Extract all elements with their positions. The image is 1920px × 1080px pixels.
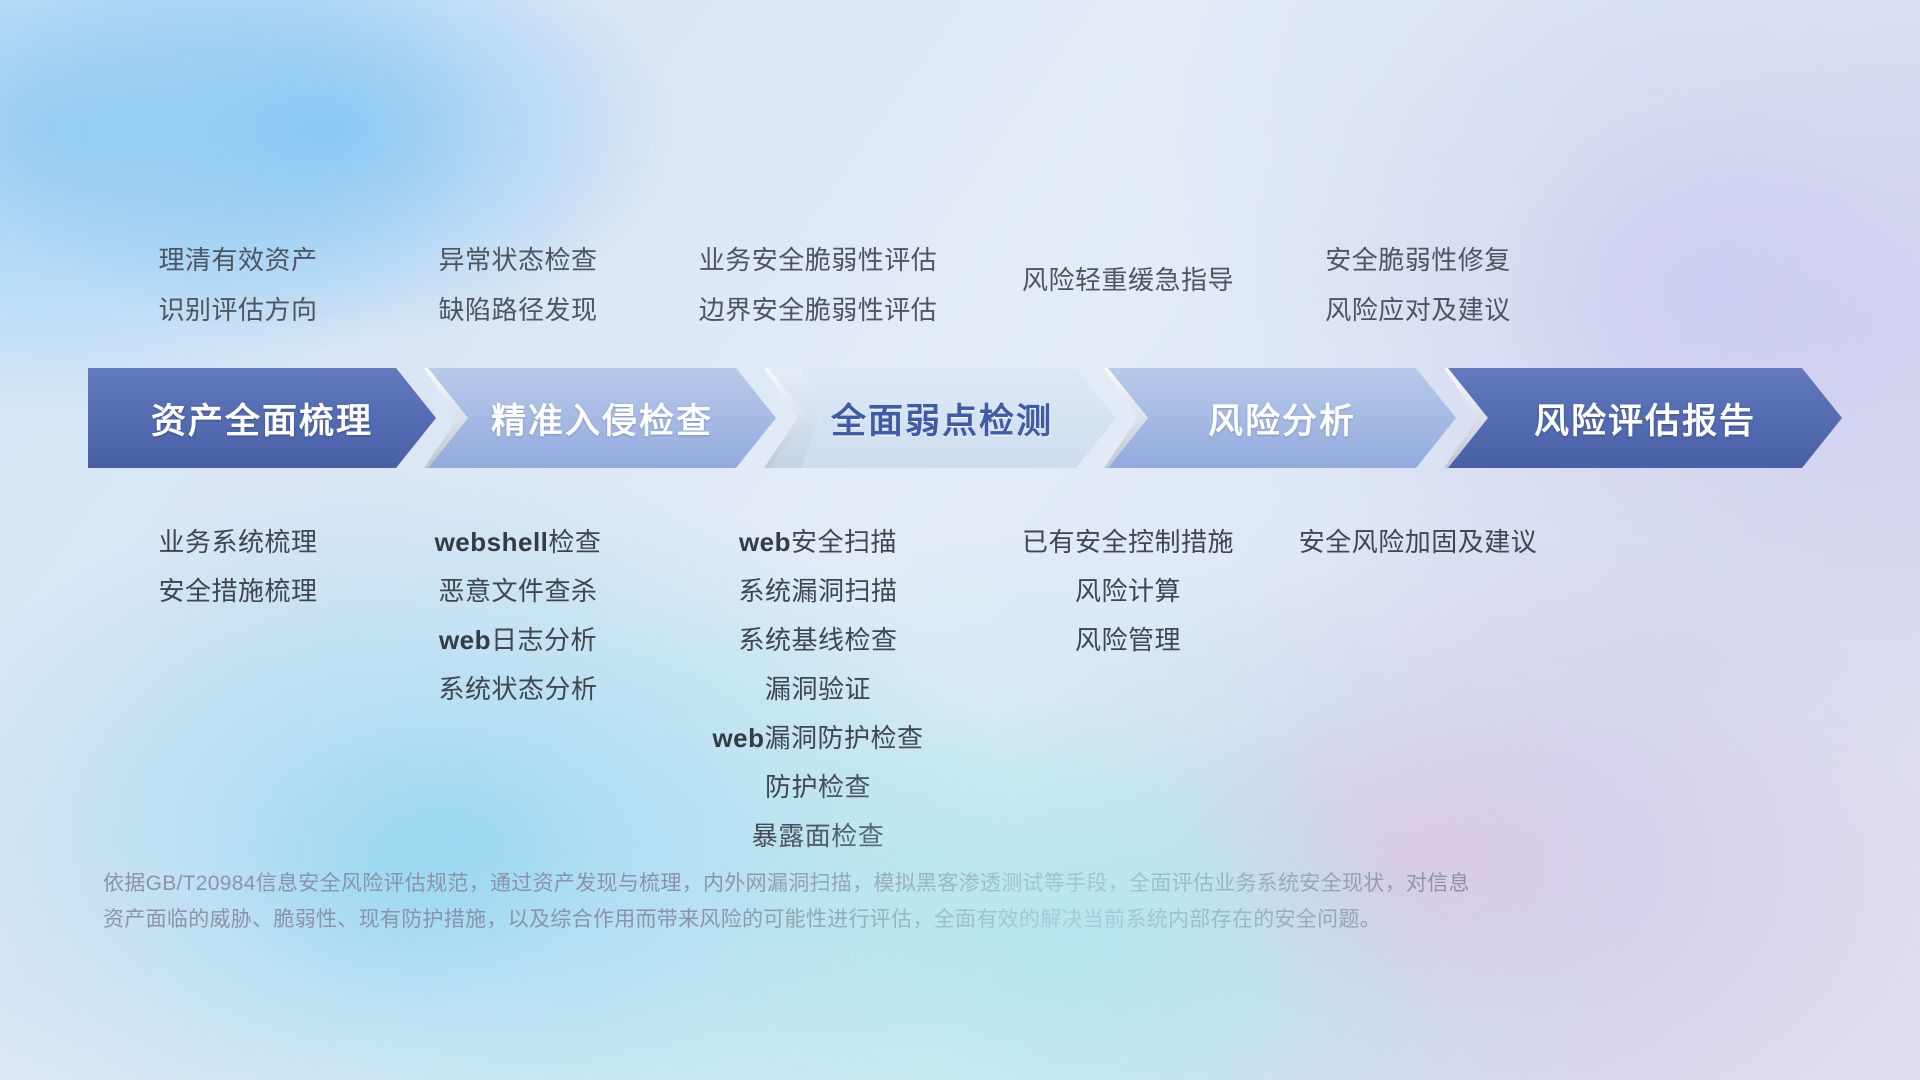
stage-output-item: 系统状态分析 — [368, 665, 668, 714]
stage-output-item: 漏洞验证 — [648, 665, 988, 714]
stage-output-item: 风险计算 — [978, 567, 1278, 616]
footer-line-1: 依据GB/T20984信息安全风险评估规范，通过资产发现与梳理，内外网漏洞扫描，… — [103, 866, 1603, 902]
stage-output-item: web漏洞防护检查 — [648, 714, 988, 763]
stage-input-item: 风险轻重缓急指导 — [978, 255, 1278, 305]
stage-input-item: 异常状态检查 — [368, 235, 668, 285]
stage-inputs-weakness-detection: 业务安全脆弱性评估边界安全脆弱性评估 — [648, 235, 988, 335]
stage-output-item: 恶意文件查杀 — [368, 567, 668, 616]
chevron-step-intrusion-check[interactable]: 精准入侵检查 — [428, 368, 776, 468]
stage-input-item: 边界安全脆弱性评估 — [648, 285, 988, 335]
stage-inputs-intrusion-check: 异常状态检查缺陷路径发现 — [368, 235, 668, 335]
chevron-step-risk-analysis[interactable]: 风险分析 — [1108, 368, 1456, 468]
chevron-step-risk-report[interactable]: 风险评估报告 — [1448, 368, 1842, 468]
stage-output-text: 日志分析 — [491, 625, 597, 655]
chevron-step-label: 风险评估报告 — [1534, 393, 1756, 444]
stage-input-item: 业务安全脆弱性评估 — [648, 235, 988, 285]
footer-line-2: 资产面临的威胁、脆弱性、现有防护措施，以及综合作用而带来风险的可能性进行评估，全… — [103, 902, 1603, 938]
chevron-step-label: 风险分析 — [1208, 393, 1356, 444]
stage-output-text: 漏洞防护检查 — [765, 723, 924, 753]
stage-output-item: webshell检查 — [368, 518, 668, 567]
stage-output-item: 安全措施梳理 — [88, 567, 388, 616]
diagram-canvas: 理清有效资产识别评估方向业务系统梳理安全措施梳理异常状态检查缺陷路径发现webs… — [0, 0, 1920, 1080]
stage-output-item: 已有安全控制措施 — [978, 518, 1278, 567]
stage-output-item: 系统漏洞扫描 — [648, 567, 988, 616]
stage-output-item: 防护检查 — [648, 763, 988, 812]
stage-output-text: 安全扫描 — [791, 527, 897, 557]
stage-output-keyword: web — [439, 625, 491, 655]
chevron-step-label: 资产全面梳理 — [151, 393, 373, 444]
stage-output-item: 业务系统梳理 — [88, 518, 388, 567]
stage-outputs-weakness-detection: web安全扫描系统漏洞扫描系统基线检查漏洞验证web漏洞防护检查防护检查暴露面检… — [648, 518, 988, 861]
stage-inputs-risk-analysis: 风险轻重缓急指导 — [978, 255, 1278, 305]
stage-output-item: 风险管理 — [978, 616, 1278, 665]
stage-output-item: web日志分析 — [368, 616, 668, 665]
stage-output-keyword: web — [712, 723, 764, 753]
footer-note: 依据GB/T20984信息安全风险评估规范，通过资产发现与梳理，内外网漏洞扫描，… — [103, 866, 1603, 938]
stage-output-item: 安全风险加固及建议 — [1258, 518, 1578, 567]
stage-output-item: 暴露面检查 — [648, 812, 988, 861]
stage-outputs-asset-inventory: 业务系统梳理安全措施梳理 — [88, 518, 388, 616]
stage-output-item: web安全扫描 — [648, 518, 988, 567]
stage-output-keyword: webshell — [435, 527, 549, 557]
stage-output-text: 检查 — [548, 527, 601, 557]
stage-inputs-risk-report: 安全脆弱性修复风险应对及建议 — [1258, 235, 1578, 335]
stage-outputs-risk-analysis: 已有安全控制措施风险计算风险管理 — [978, 518, 1278, 665]
stage-output-keyword: web — [739, 527, 791, 557]
stage-output-item: 系统基线检查 — [648, 616, 988, 665]
stage-input-item: 理清有效资产 — [88, 235, 388, 285]
stage-outputs-risk-report: 安全风险加固及建议 — [1258, 518, 1578, 567]
stage-inputs-asset-inventory: 理清有效资产识别评估方向 — [88, 235, 388, 335]
stage-input-item: 安全脆弱性修复 — [1258, 235, 1578, 285]
stage-input-item: 识别评估方向 — [88, 285, 388, 335]
stage-input-item: 风险应对及建议 — [1258, 285, 1578, 335]
chevron-band: 资产全面梳理精准入侵检查全面弱点检测风险分析风险评估报告 — [0, 368, 1920, 468]
chevron-step-label: 精准入侵检查 — [491, 393, 713, 444]
stage-input-item: 缺陷路径发现 — [368, 285, 668, 335]
chevron-step-asset-inventory[interactable]: 资产全面梳理 — [88, 368, 436, 468]
chevron-step-label: 全面弱点检测 — [831, 393, 1053, 444]
stage-outputs-intrusion-check: webshell检查恶意文件查杀web日志分析系统状态分析 — [368, 518, 668, 714]
chevron-step-weakness-detection[interactable]: 全面弱点检测 — [768, 368, 1116, 468]
